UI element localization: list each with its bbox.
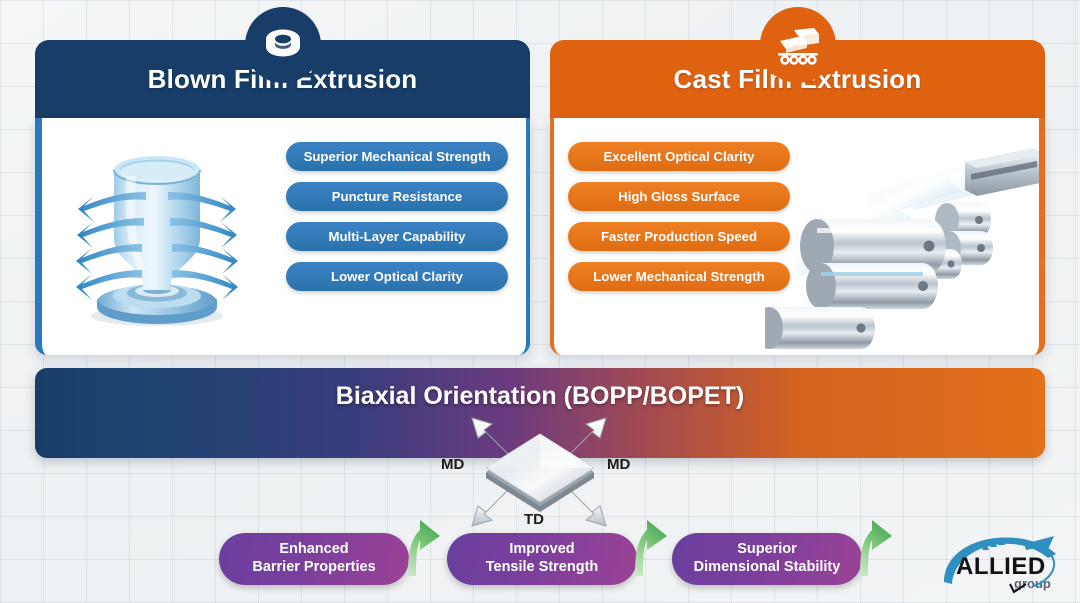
feature-pill[interactable]: Superior Mechanical Strength xyxy=(286,142,508,171)
benefit-pill-dimensional[interactable]: Superior Dimensional Stability xyxy=(672,533,862,585)
up-arrow-icon xyxy=(400,516,444,578)
benefit-line2: Barrier Properties xyxy=(252,559,375,575)
card-cast-film: Cast Film Extrusion xyxy=(550,40,1045,355)
banner-title: Biaxial Orientation (BOPP/BOPET) xyxy=(35,382,1045,411)
cast-die-rollers-icon xyxy=(760,7,836,83)
card-header-blown-film: Blown Film Extrusion xyxy=(35,40,530,118)
feature-pill[interactable]: Excellent Optical Clarity xyxy=(568,142,790,171)
benefit-line1: Superior xyxy=(737,541,797,557)
feature-pill[interactable]: High Gloss Surface xyxy=(568,182,790,211)
feature-pill[interactable]: Lower Optical Clarity xyxy=(286,262,508,291)
card-header-cast-film: Cast Film Extrusion xyxy=(550,40,1045,118)
extrusion-die-ring-icon xyxy=(245,7,321,83)
benefit-line2: Dimensional Stability xyxy=(694,559,841,575)
benefit-pill-tensile[interactable]: Improved Tensile Strength xyxy=(447,533,637,585)
md-label-right: MD xyxy=(607,456,630,473)
card-blown-film: Blown Film Extrusion xyxy=(35,40,530,355)
benefit-pill-barrier[interactable]: Enhanced Barrier Properties xyxy=(219,533,409,585)
feature-list-blown-film: Superior Mechanical Strength Puncture Re… xyxy=(286,142,508,291)
benefit-line1: Improved xyxy=(509,541,574,557)
feature-pill[interactable]: Faster Production Speed xyxy=(568,222,790,251)
benefit-line2: Tensile Strength xyxy=(486,559,599,575)
benefit-text: Improved Tensile Strength xyxy=(486,541,599,576)
feature-pill[interactable]: Puncture Resistance xyxy=(286,182,508,211)
md-label-left: MD xyxy=(441,456,464,473)
feature-pill[interactable]: Lower Mechanical Strength xyxy=(568,262,790,291)
feature-list-cast-film: Excellent Optical Clarity High Gloss Sur… xyxy=(568,142,790,291)
up-arrow-icon xyxy=(627,516,671,578)
up-arrow-icon xyxy=(852,516,896,578)
benefit-line1: Enhanced xyxy=(279,541,348,557)
infographic-canvas: Blown Film Extrusion xyxy=(0,0,1080,603)
benefit-text: Enhanced Barrier Properties xyxy=(252,541,375,576)
cast-film-rollers-illustration xyxy=(765,124,1045,352)
feature-pill[interactable]: Multi-Layer Capability xyxy=(286,222,508,251)
benefit-text: Superior Dimensional Stability xyxy=(694,541,841,576)
td-label: TD xyxy=(524,511,544,528)
blown-film-bubble-illustration xyxy=(50,130,265,345)
card-body-cast-film: Excellent Optical Clarity High Gloss Sur… xyxy=(550,118,1045,355)
allied-group-logo: ALLIED group xyxy=(938,528,1070,594)
card-body-blown-film: Superior Mechanical Strength Puncture Re… xyxy=(35,118,530,355)
